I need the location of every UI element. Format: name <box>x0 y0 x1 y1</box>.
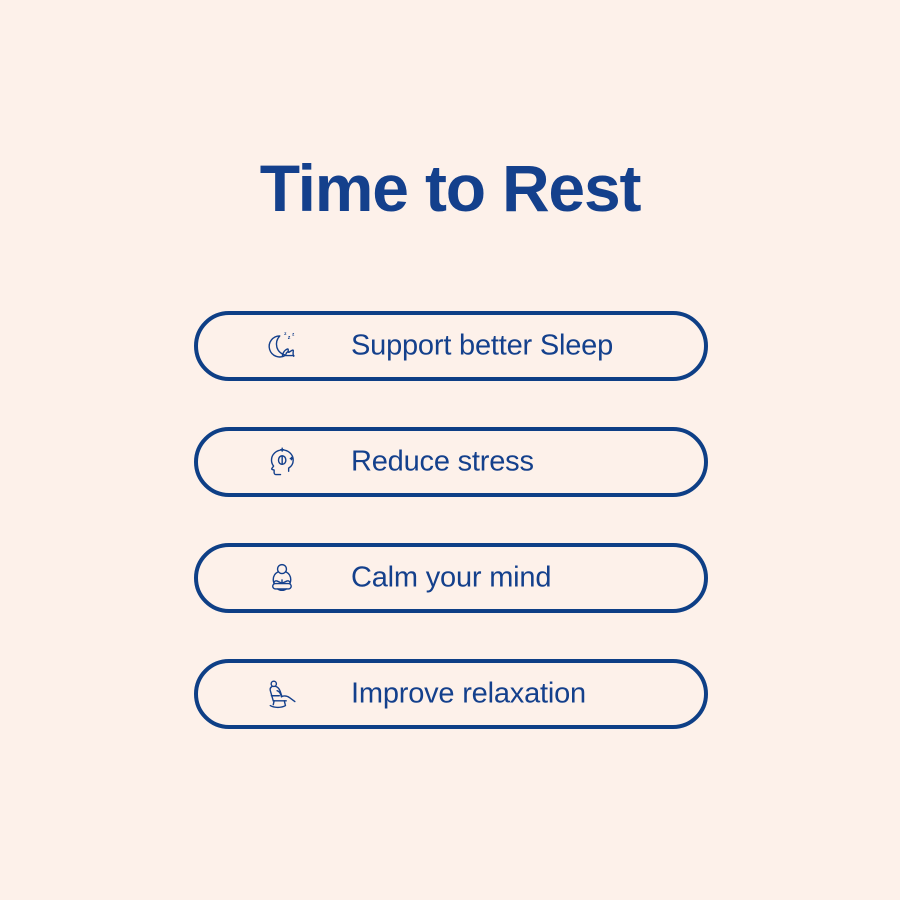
benefit-label: Reduce stress <box>351 448 534 477</box>
benefit-item-sleep[interactable]: z z z Support better Sleep <box>194 311 708 381</box>
svg-text:z: z <box>284 332 287 337</box>
benefit-label: Calm your mind <box>351 564 551 593</box>
moon-sleep-icon: z z z <box>261 325 303 367</box>
lounge-chair-icon <box>261 673 303 715</box>
page-title: Time to Rest <box>0 155 900 221</box>
benefit-item-relaxation[interactable]: Improve relaxation <box>194 659 708 729</box>
promo-card: Time to Rest z z z Support better Sleep <box>0 0 900 900</box>
meditation-pose-icon <box>261 557 303 599</box>
benefit-item-calm[interactable]: Calm your mind <box>194 543 708 613</box>
benefits-list: z z z Support better Sleep Reduce stress <box>194 311 708 729</box>
svg-text:z: z <box>292 331 295 336</box>
benefit-label: Support better Sleep <box>351 332 613 361</box>
benefit-label: Improve relaxation <box>351 680 586 709</box>
svg-text:z: z <box>288 335 291 341</box>
benefit-item-stress[interactable]: Reduce stress <box>194 427 708 497</box>
head-lotus-icon <box>261 441 303 483</box>
